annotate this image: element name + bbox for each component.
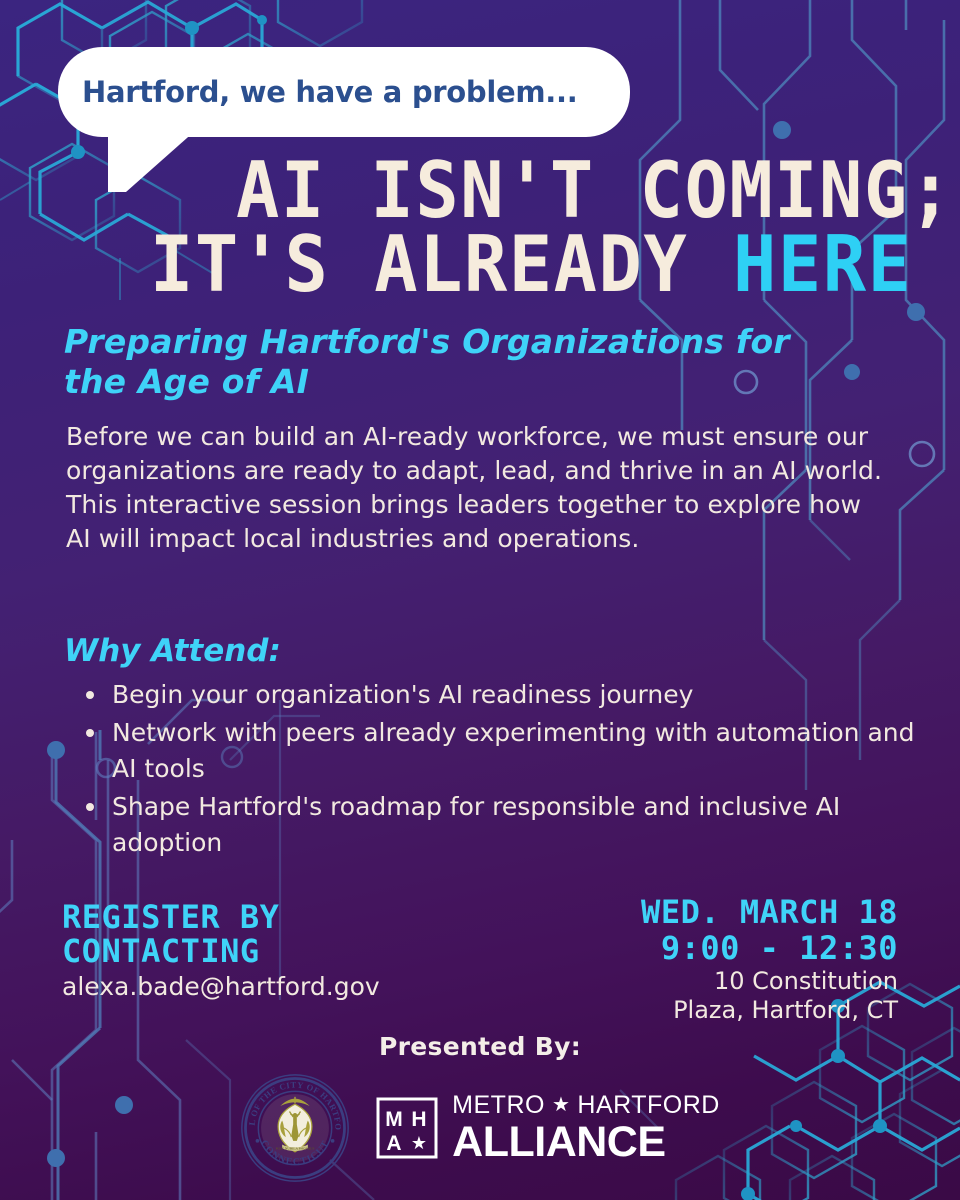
presented-by-label: Presented By: xyxy=(0,1032,960,1061)
headline: AI ISN'T COMING; IT'S ALREADY HERE xyxy=(150,150,940,298)
headline-accent-word: HERE xyxy=(733,219,912,310)
list-item-text: Begin your organization's AI readiness j… xyxy=(112,680,693,709)
speech-bubble: Hartford, we have a problem... xyxy=(58,47,630,137)
mha-wordmark-star-icon: ★ xyxy=(552,1095,570,1115)
event-time: 9:00 - 12:30 xyxy=(641,930,898,966)
bullet-dot xyxy=(86,691,94,699)
event-details-block: WED. MARCH 18 9:00 - 12:30 10 Constituti… xyxy=(641,894,898,1024)
body-paragraph: Before we can build an AI-ready workforc… xyxy=(66,420,886,556)
list-item-text: Shape Hartford's roadmap for responsible… xyxy=(112,792,840,857)
event-venue-line-1: 10 Constitution xyxy=(641,968,898,995)
register-block: REGISTER BY CONTACTING alexa.bade@hartfo… xyxy=(62,900,380,1001)
seal-motto-text: POST NUBILA PHOEBUS xyxy=(276,1146,315,1150)
headline-line-2: IT'S ALREADY HERE xyxy=(150,224,940,304)
register-heading-line-1: REGISTER BY xyxy=(62,900,380,934)
speech-bubble-text: Hartford, we have a problem... xyxy=(82,75,577,109)
why-attend-title: Why Attend: xyxy=(64,633,281,669)
event-venue-line-2: Plaza, Hartford, CT xyxy=(641,997,898,1024)
list-item-text: Network with peers already experimenting… xyxy=(112,718,915,783)
speech-bubble-tail xyxy=(108,130,196,192)
list-item: Begin your organization's AI readiness j… xyxy=(112,677,922,713)
register-heading-line-2: CONTACTING xyxy=(62,934,380,968)
mha-word-hartford: HARTFORD xyxy=(577,1093,719,1118)
mha-word-metro: METRO xyxy=(452,1093,545,1118)
mha-monogram-icon: M H A ★ xyxy=(376,1097,438,1159)
mha-wordmark: METRO ★ HARTFORD ALLIANCE xyxy=(452,1093,720,1164)
bullet-dot xyxy=(86,803,94,811)
headline-line-2-plain: IT'S ALREADY xyxy=(150,219,733,310)
metro-hartford-alliance-logo: M H A ★ METRO ★ HARTFORD ALLIANCE xyxy=(376,1093,720,1164)
subheading: Preparing Hartford's Organizations for t… xyxy=(64,322,844,402)
event-flyer: Hartford, we have a problem... AI ISN'T … xyxy=(0,0,960,1200)
list-item: Network with peers already experimenting… xyxy=(112,715,922,787)
city-of-hartford-seal-icon: SEAL OF THE CITY OF HARTFORD CONNECTICUT xyxy=(240,1073,350,1183)
mha-wordmark-top-row: METRO ★ HARTFORD xyxy=(452,1093,720,1118)
sponsor-logos: SEAL OF THE CITY OF HARTFORD CONNECTICUT xyxy=(0,1068,960,1188)
mha-letter-h: H xyxy=(412,1108,427,1131)
why-attend-list: Begin your organization's AI readiness j… xyxy=(70,677,922,863)
bullet-dot xyxy=(86,729,94,737)
mha-letter-m: M xyxy=(385,1108,403,1131)
list-item: Shape Hartford's roadmap for responsible… xyxy=(112,789,922,861)
mha-letter-a: A xyxy=(387,1132,402,1155)
event-date: WED. MARCH 18 xyxy=(641,894,898,930)
register-email-address[interactable]: alexa.bade@hartford.gov xyxy=(62,972,380,1001)
mha-monogram-star-icon: ★ xyxy=(411,1133,427,1154)
mha-word-alliance: ALLIANCE xyxy=(452,1121,665,1164)
